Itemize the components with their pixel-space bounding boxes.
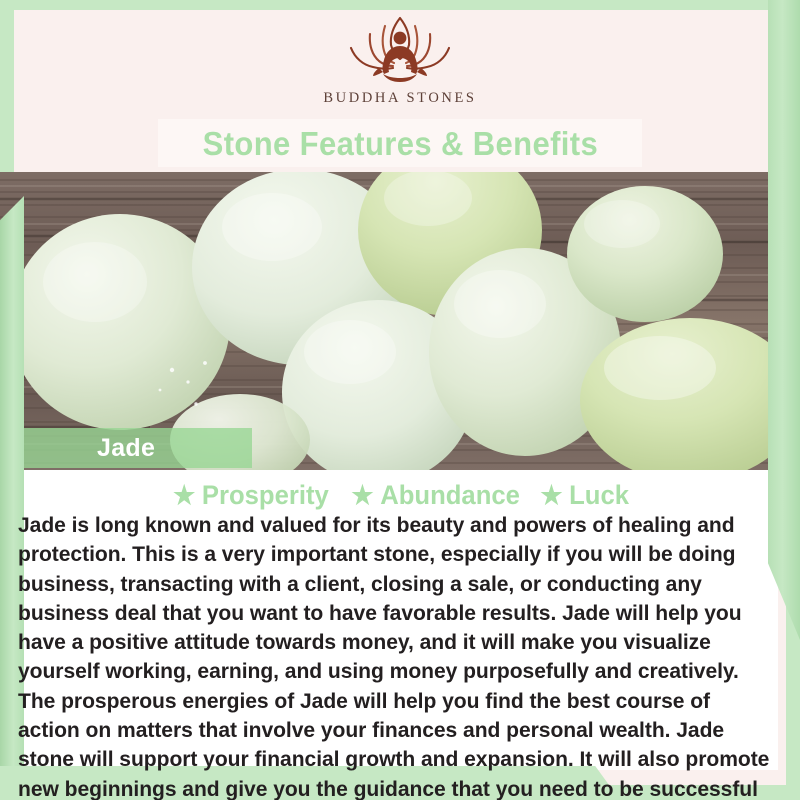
infographic-canvas: BUDDHA STONES Stone Features & Benefits (0, 0, 800, 800)
title-banner: Stone Features & Benefits (158, 119, 642, 167)
stone-photo (0, 172, 785, 470)
keyword-list: ★ Prosperity ★ Abundance ★ Luck (0, 478, 800, 512)
star-icon: ★ (540, 482, 562, 508)
brand-logo: BUDDHA STONES (0, 14, 800, 118)
stone-name-badge: Jade (20, 428, 252, 468)
stone-name: Jade (97, 434, 155, 463)
brand-name: BUDDHA STONES (323, 90, 476, 107)
lotus-meditation-figure-icon (327, 14, 473, 86)
keyword-abundance: ★ Abundance (351, 480, 519, 511)
stone-description: Jade is long known and valued for its be… (18, 511, 773, 800)
page-title: Stone Features & Benefits (202, 127, 598, 160)
star-icon: ★ (351, 482, 373, 508)
keyword-label: Abundance (380, 480, 520, 511)
keyword-label: Luck (569, 480, 629, 511)
keyword-label: Prosperity (202, 480, 329, 511)
keyword-luck: ★ Luck (540, 480, 629, 511)
star-icon: ★ (173, 482, 195, 508)
stone-photo-image (0, 172, 785, 470)
decoration-right-band (768, 0, 800, 640)
keyword-prosperity: ★ Prosperity (173, 480, 329, 511)
